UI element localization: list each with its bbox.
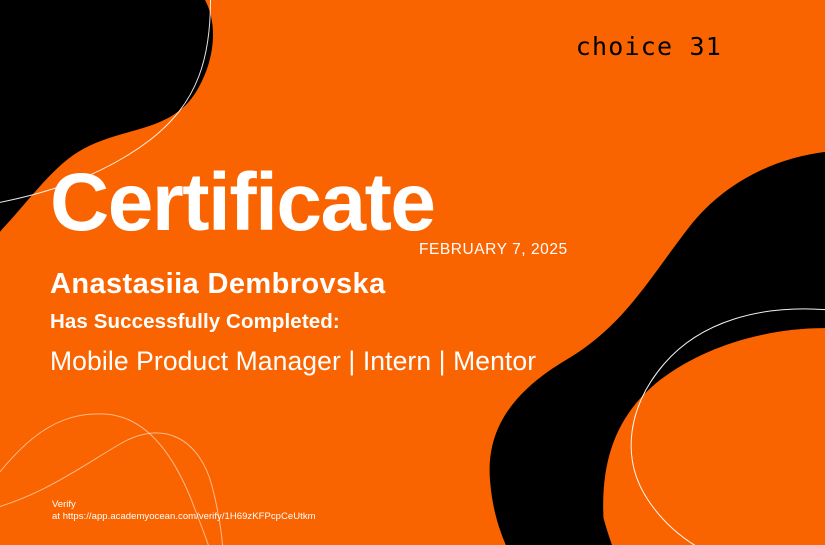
certificate-canvas: choice 31 Certificate FEBRUARY 7, 2025 A… <box>0 0 825 545</box>
recipient-name: Anastasiia Dembrovska <box>50 267 386 301</box>
verification-block: Verify at https://app.academyocean.com/v… <box>52 499 316 524</box>
completion-statement: Has Successfully Completed: <box>50 309 340 335</box>
brand-logo: choice 31 <box>576 32 722 61</box>
verify-label: Verify <box>52 499 316 511</box>
certificate-content: choice 31 Certificate FEBRUARY 7, 2025 A… <box>0 0 825 545</box>
issue-date: FEBRUARY 7, 2025 <box>419 241 568 259</box>
course-title: Mobile Product Manager | Intern | Mentor <box>50 345 536 377</box>
page-title: Certificate <box>50 160 435 246</box>
verify-url[interactable]: at https://app.academyocean.com/verify/1… <box>52 511 316 523</box>
